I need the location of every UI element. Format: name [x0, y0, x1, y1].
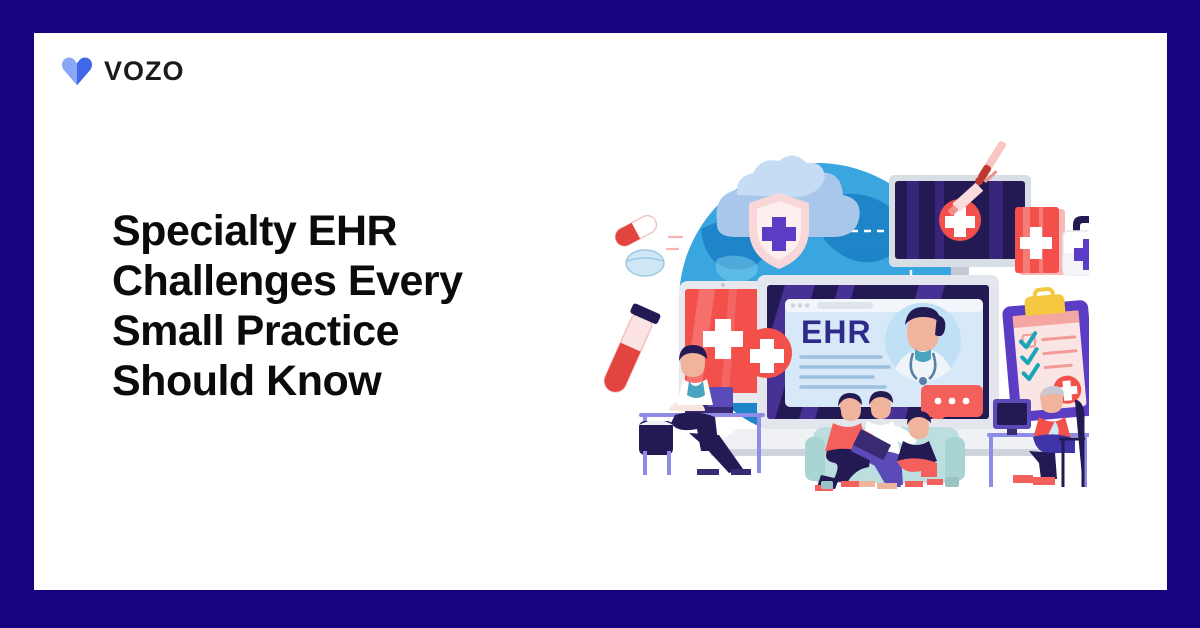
headline-line-3: Small Practice: [112, 306, 582, 356]
pill-capsule-icon: [612, 212, 682, 276]
first-aid-kit-icon: [1063, 216, 1089, 275]
test-tube-icon: [597, 303, 661, 397]
content-card: VOZO Specialty EHR Challenges Every Smal…: [34, 33, 1167, 590]
heart-icon: [60, 56, 94, 86]
medical-book-icon: [1015, 207, 1065, 275]
banner-root: VOZO Specialty EHR Challenges Every Smal…: [0, 0, 1200, 628]
headline-line-4: Should Know: [112, 356, 582, 406]
page-title: Specialty EHR Challenges Every Small Pra…: [112, 206, 582, 406]
medical-cross-icon: [742, 328, 792, 378]
headline-line-1: Specialty EHR: [112, 206, 582, 256]
brand-logo[interactable]: VOZO: [60, 56, 185, 86]
hero-illustration: EHR: [589, 133, 1089, 493]
brand-wordmark: VOZO: [104, 58, 185, 85]
svg-text:EHR: EHR: [801, 314, 872, 350]
ehr-healthcare-illustration: EHR: [589, 133, 1089, 493]
headline-line-2: Challenges Every: [112, 256, 582, 306]
